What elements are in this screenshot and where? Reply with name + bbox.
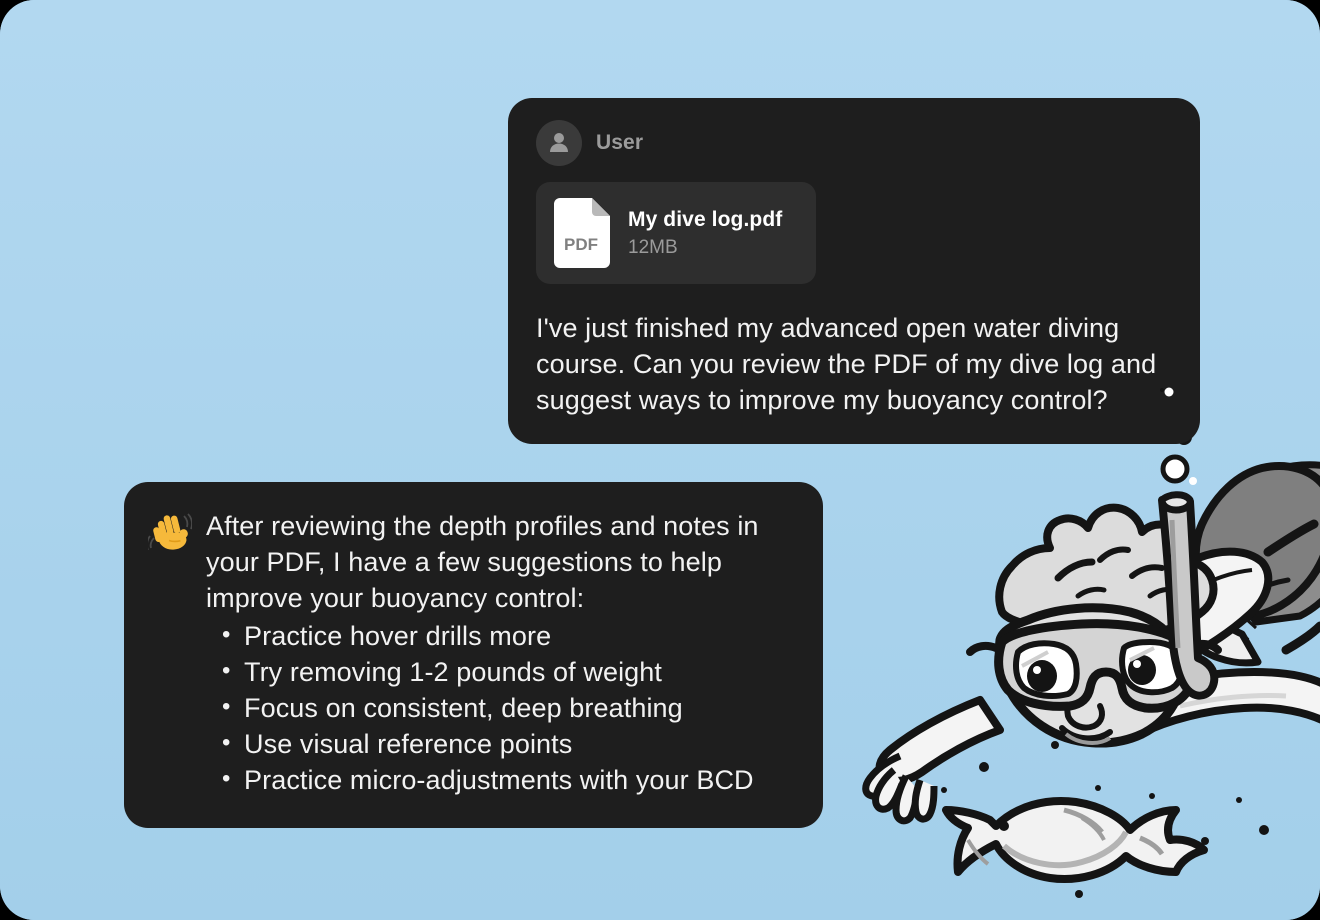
assistant-message-row: After reviewing the depth profiles and n…	[148, 508, 795, 798]
pdf-file-name: My dive log.pdf	[628, 208, 782, 232]
user-message-bubble: User PDF My dive log.pdf 12MB I've just …	[508, 98, 1200, 444]
pdf-attachment-card[interactable]: PDF My dive log.pdf 12MB	[536, 182, 816, 284]
user-message-header: User	[536, 120, 1174, 166]
suggestion-item: Use visual reference points	[244, 726, 795, 762]
snorkeler-torso-icon	[1111, 552, 1269, 672]
suggestion-list: Practice hover drills moreTry removing 1…	[206, 618, 795, 798]
suggestion-item: Focus on consistent, deep breathing	[244, 690, 795, 726]
user-sender-label: User	[596, 131, 643, 155]
air-bubbles-icon	[941, 391, 1269, 898]
snorkeler-face-icon	[999, 608, 1182, 743]
snorkeler-left-arm-icon	[866, 700, 1000, 821]
wetsuit-sleeve-icon	[1182, 465, 1320, 663]
suggestion-item: Practice micro-adjustments with your BCD	[244, 762, 795, 798]
dive-mask-icon	[970, 624, 1218, 709]
svg-text:PDF: PDF	[564, 235, 598, 254]
screenshot-canvas: User PDF My dive log.pdf 12MB I've just …	[0, 0, 1320, 920]
waving-hand-emoji	[148, 510, 192, 554]
user-message-text: I've just finished my advanced open wate…	[536, 310, 1174, 418]
pdf-file-icon: PDF	[554, 198, 610, 268]
person-avatar-icon	[536, 120, 582, 166]
snorkeler-hair-icon	[999, 508, 1213, 638]
pdf-file-size: 12MB	[628, 237, 782, 259]
assistant-intro-text: After reviewing the depth profiles and n…	[206, 508, 795, 616]
suggestion-item: Try removing 1-2 pounds of weight	[244, 654, 795, 690]
suggestion-item: Practice hover drills more	[244, 618, 795, 654]
pdf-attachment-meta: My dive log.pdf 12MB	[628, 208, 782, 259]
snorkeler-right-arm-icon	[1116, 672, 1320, 736]
snorkel-tube-icon	[1162, 495, 1214, 696]
fish-icon	[946, 801, 1204, 879]
assistant-message-bubble: After reviewing the depth profiles and n…	[124, 482, 823, 828]
assistant-message-body: After reviewing the depth profiles and n…	[206, 508, 795, 798]
